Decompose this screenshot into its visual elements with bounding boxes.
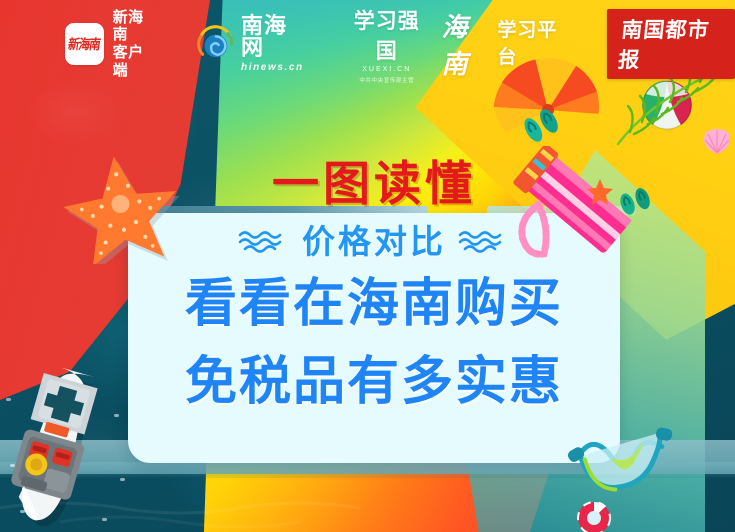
speedboat-icon (2, 368, 130, 528)
hinews-name-en: hinews.cn (241, 62, 306, 73)
seashell-icon (702, 128, 732, 156)
hinews-name-cn: 南海网 (241, 15, 306, 59)
hainan-platform-a: 海南 (442, 7, 492, 81)
xuexi-name-en: XUEXI.CN (346, 66, 427, 73)
xuexi-subtitle: 中共中央宣传部主管 (346, 76, 427, 84)
nanguodushibao-name: 南国都市报 (617, 14, 725, 74)
xinhainan-label: 新海南 客户端 (113, 9, 156, 80)
subtitle-text: 价格对比 (302, 225, 446, 258)
xinhainan-label-line2: 客户端 (113, 44, 156, 79)
life-ring-icon (576, 500, 612, 532)
headline-line-2: 免税品有多实惠 (128, 350, 620, 414)
infographic-poster: 新海南 新海南 客户端 南海网 hinews.cn 学习强国 XUEXI.CN (0, 0, 735, 532)
xinhainan-mark-text: 新海南 (67, 34, 101, 54)
subtitle-row: 价格对比 (128, 225, 620, 258)
xinhainan-app-icon: 新海南 (65, 23, 104, 65)
wave-left-icon (238, 228, 290, 254)
wave-right-icon (458, 228, 510, 254)
flip-flops-icon (520, 108, 564, 142)
logo-xinhainan[interactable]: 新海南 新海南 客户端 (65, 9, 155, 80)
xinhainan-label-line1: 新海南 (113, 9, 156, 44)
flip-flops-icon-2 (616, 186, 656, 216)
logo-hinews[interactable]: 南海网 hinews.cn (197, 15, 306, 73)
hinews-label: 南海网 hinews.cn (241, 15, 306, 73)
hainan-platform-b: 学习平台 (497, 15, 571, 69)
xuexi-name-cn: 学习强国 (346, 5, 427, 65)
headline-line-1: 看看在海南购买 (128, 272, 620, 336)
logo-nanguodushibao[interactable]: 南国都市报 (607, 9, 735, 79)
eyebrow-title: 一图读懂 (128, 160, 620, 211)
logo-xuexiqiangguo[interactable]: 学习强国 XUEXI.CN 中共中央宣传部主管 (346, 5, 427, 84)
title-block: 一图读懂 价格对比 看看在海南购买 免税品有多实惠 (128, 160, 620, 415)
logo-hainan-platform[interactable]: 海南 学习平台 (442, 7, 572, 81)
header-logo-bar: 新海南 新海南 客户端 南海网 hinews.cn 学习强国 XUEXI.CN (0, 0, 735, 88)
swim-goggles-icon (568, 424, 680, 506)
hinews-swirl-icon (197, 24, 235, 64)
